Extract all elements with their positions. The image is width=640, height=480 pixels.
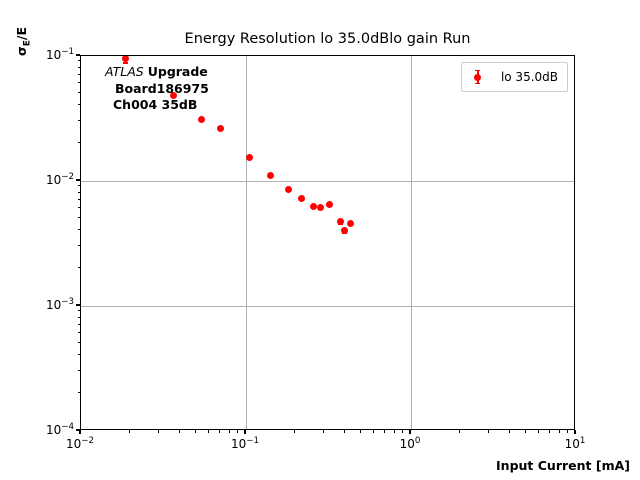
y-axis-minor-tick: [78, 392, 81, 393]
y-axis-minor-tick: [78, 317, 81, 318]
x-axis-minor-tick: [360, 430, 361, 433]
gridline-vertical: [246, 56, 247, 429]
annotation-line-2: Board186975: [105, 81, 209, 98]
y-axis-minor-tick: [78, 229, 81, 230]
data-point: [298, 195, 305, 202]
x-axis-minor-tick: [294, 430, 295, 433]
x-axis-tick: [244, 430, 245, 434]
x-axis-minor-tick: [219, 430, 220, 433]
y-axis-minor-tick: [78, 324, 81, 325]
data-point: [122, 55, 129, 62]
y-tick-label: 10−2: [34, 173, 74, 187]
y-axis-minor-tick: [78, 60, 81, 61]
data-point: [267, 172, 274, 179]
x-tick-label: 101: [565, 437, 586, 451]
y-axis-minor-tick: [78, 104, 81, 105]
x-axis-minor-tick: [459, 430, 460, 433]
data-point: [317, 204, 324, 211]
y-tick-label: 10−3: [34, 298, 74, 312]
y-axis-minor-tick: [78, 217, 81, 218]
plot-area: ATLAS Upgrade Board186975 Ch004 35dB lo …: [80, 55, 575, 430]
y-axis-minor-tick: [78, 245, 81, 246]
x-axis-minor-tick: [384, 430, 385, 433]
y-tick-label: 10−4: [34, 423, 74, 437]
x-axis-minor-tick: [237, 430, 238, 433]
y-axis-label: σE/E: [14, 27, 30, 56]
chart-figure: Energy Resolution lo 35.0dBlo gain Run σ…: [0, 0, 640, 480]
y-axis-label-tail: /E: [14, 27, 29, 40]
x-axis-minor-tick: [158, 430, 159, 433]
y-axis-minor-tick: [78, 67, 81, 68]
annotation-line-3: Ch004 35dB: [105, 97, 209, 114]
data-point: [326, 201, 333, 208]
x-axis-minor-tick: [559, 430, 560, 433]
gridline-horizontal: [81, 181, 574, 182]
x-axis-minor-tick: [373, 430, 374, 433]
y-axis-minor-tick: [78, 82, 81, 83]
y-axis-minor-tick: [78, 370, 81, 371]
gridline-vertical: [411, 56, 412, 429]
x-axis-minor-tick: [402, 430, 403, 433]
y-axis-label-subscript: E: [23, 40, 33, 46]
y-axis-tick: [76, 304, 80, 305]
y-axis-minor-tick: [78, 199, 81, 200]
y-axis-minor-tick: [78, 120, 81, 121]
y-axis-tick: [76, 429, 80, 430]
legend-marker-icon: [469, 68, 487, 86]
x-axis-label: Input Current [mA]: [496, 458, 630, 473]
x-axis-minor-tick: [525, 430, 526, 433]
y-axis-minor-tick: [78, 310, 81, 311]
x-axis-minor-tick: [208, 430, 209, 433]
y-axis-minor-tick: [78, 92, 81, 93]
data-point: [341, 227, 348, 234]
y-axis-minor-tick: [78, 142, 81, 143]
data-point: [246, 154, 253, 161]
y-axis-minor-tick: [78, 185, 81, 186]
y-axis-minor-tick: [78, 267, 81, 268]
x-tick-label: 100: [400, 437, 421, 451]
x-axis-minor-tick: [538, 430, 539, 433]
chart-legend[interactable]: lo 35.0dB: [461, 62, 568, 92]
annotation-line-1: ATLAS Upgrade: [105, 64, 209, 81]
y-axis-minor-tick: [78, 354, 81, 355]
annotation-upgrade-text: Upgrade: [148, 64, 208, 79]
data-point: [285, 186, 292, 193]
y-axis-tick: [76, 54, 80, 55]
y-tick-label: 10−1: [34, 48, 74, 62]
x-axis-minor-tick: [488, 430, 489, 433]
x-axis-minor-tick: [129, 430, 130, 433]
y-axis-minor-tick: [78, 207, 81, 208]
x-axis-minor-tick: [394, 430, 395, 433]
atlas-annotation: ATLAS Upgrade Board186975 Ch004 35dB: [105, 64, 209, 114]
y-axis-tick: [76, 179, 80, 180]
y-axis-label-sigma: σ: [14, 46, 29, 56]
x-tick-label: 10−2: [66, 437, 94, 451]
y-axis-minor-tick: [78, 342, 81, 343]
chart-title: Energy Resolution lo 35.0dBlo gain Run: [80, 30, 575, 48]
x-tick-label: 10−1: [231, 437, 259, 451]
legend-label-lo-35db: lo 35.0dB: [501, 70, 558, 84]
x-axis-minor-tick: [195, 430, 196, 433]
x-axis-minor-tick: [567, 430, 568, 433]
data-point: [217, 125, 224, 132]
data-point: [347, 220, 354, 227]
x-axis-minor-tick: [179, 430, 180, 433]
y-axis-minor-tick: [78, 192, 81, 193]
x-axis-tick: [409, 430, 410, 434]
y-axis-minor-tick: [78, 74, 81, 75]
data-point: [198, 116, 205, 123]
y-axis-minor-tick: [78, 332, 81, 333]
data-point: [310, 203, 317, 210]
x-axis-minor-tick: [344, 430, 345, 433]
annotation-atlas-text: ATLAS: [105, 64, 144, 79]
x-axis-minor-tick: [229, 430, 230, 433]
x-axis-tick: [574, 430, 575, 434]
x-axis-minor-tick: [323, 430, 324, 433]
gridline-horizontal: [81, 306, 574, 307]
x-axis-minor-tick: [549, 430, 550, 433]
x-axis-minor-tick: [509, 430, 510, 433]
